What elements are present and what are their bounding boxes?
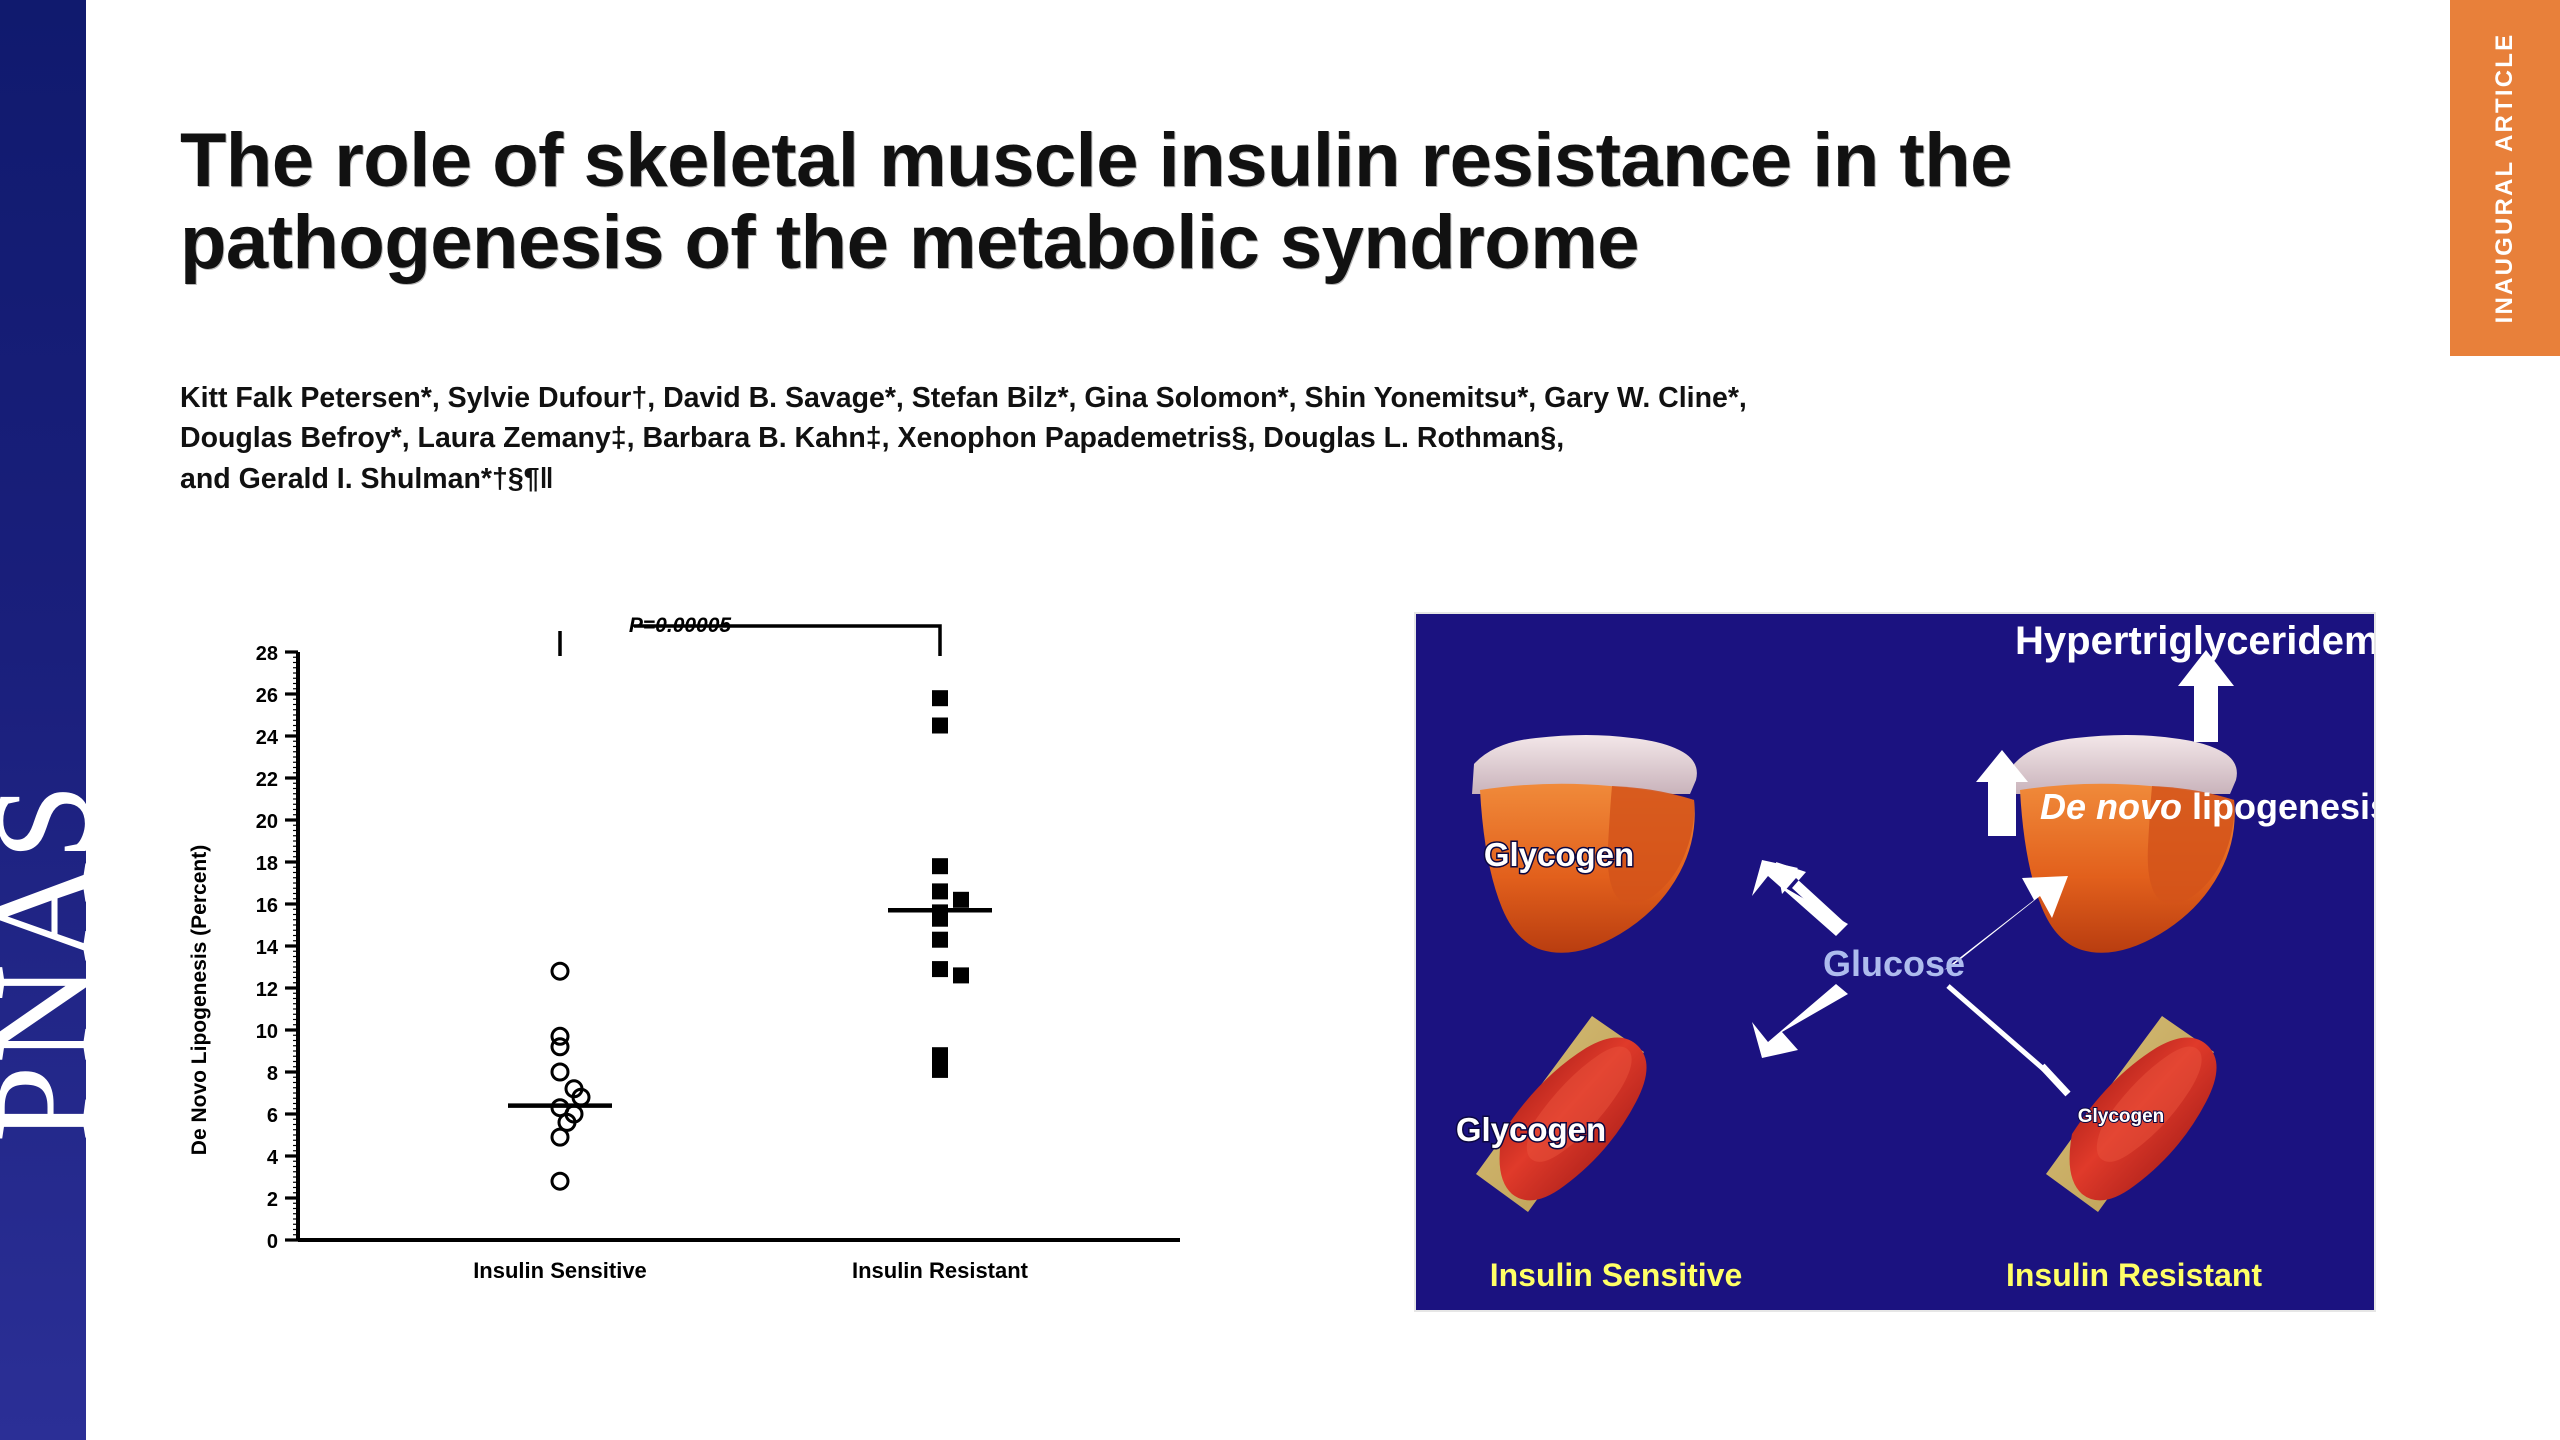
author-list: Kitt Falk Petersen*, Sylvie Dufour†, Dav… [180,378,2380,499]
y-tick-label: 0 [267,1231,278,1253]
y-tick-label: 4 [267,1147,279,1169]
y-tick-label: 10 [256,1021,278,1043]
y-axis-tick-labels: 0246810121416182022242628 [256,643,279,1253]
author-line-2: Douglas Befroy*, Laura Zemany‡, Barbara … [180,418,2380,458]
muscle-glycogen-left-label: Glycogen [1456,1111,1606,1148]
dot-plot-figure: 0246810121416182022242628 De Novo Lipoge… [180,610,1320,1310]
title-line-1: The role of skeletal muscle insulin resi… [180,120,2340,202]
data-point-filled-square [932,718,948,734]
data-points [552,690,969,1189]
x-axis-label-insulin-resistant: Insulin Resistant [852,1258,1029,1283]
title-line-2: pathogenesis of the metabolic syndrome [180,202,2340,284]
data-point-open-circle [552,1064,568,1080]
y-tick-label: 2 [267,1189,278,1211]
data-point-filled-square [953,892,969,908]
data-point-filled-square [932,858,948,874]
y-tick-label: 28 [256,643,278,665]
metabolism-schematic-figure: Glycogen Glycogen Glycogen [1414,612,2376,1312]
metabolism-schematic-svg: Glycogen Glycogen Glycogen [1416,614,2374,1310]
y-tick-label: 24 [256,727,279,749]
data-point-open-circle [552,1039,568,1055]
y-tick-label: 8 [267,1063,278,1085]
y-tick-label: 16 [256,895,278,917]
data-point-filled-square [932,932,948,948]
data-point-open-circle [552,1129,568,1145]
data-point-open-circle [552,1173,568,1189]
y-tick-label: 20 [256,811,278,833]
bottom-left-label: Insulin Sensitive [1490,1257,1743,1293]
page-title: The role of skeletal muscle insulin resi… [180,120,2340,284]
data-point-filled-square [932,1062,948,1078]
y-axis-label: De Novo Lipogenesis (Percent) [188,845,211,1155]
author-line-3: and Gerald I. Shulman*†§¶‖ [180,459,2380,499]
de-novo-lipogenesis-label: De novo lipogenesis [2040,786,2374,827]
liver-glycogen-left-label: Glycogen [1484,836,1634,873]
data-point-filled-square [932,911,948,927]
data-point-filled-square [932,1047,948,1063]
data-point-open-circle [552,963,568,979]
mean-lines [508,910,992,1105]
bottom-right-label: Insulin Resistant [2006,1257,2262,1293]
pnas-wordmark: PNAS [0,781,86,1142]
y-tick-label: 18 [256,853,278,875]
dot-plot-svg: 0246810121416182022242628 De Novo Lipoge… [180,610,1320,1310]
data-point-filled-square [953,967,969,983]
data-point-filled-square [932,961,948,977]
inaugural-article-tab: INAUGURAL ARTICLE [2450,0,2560,356]
y-tick-label: 22 [256,769,278,791]
muscle-glycogen-right-label: Glycogen [2078,1106,2165,1127]
p-value-annotation: P=0.00005 [629,614,732,637]
inaugural-article-label: INAUGURAL ARTICLE [2491,33,2519,324]
y-tick-label: 26 [256,685,278,707]
author-line-1: Kitt Falk Petersen*, Sylvie Dufour†, Dav… [180,378,2380,418]
y-tick-label: 12 [256,979,278,1001]
x-axis-label-insulin-sensitive: Insulin Sensitive [473,1258,647,1283]
title-block: The role of skeletal muscle insulin resi… [180,120,2340,284]
data-point-filled-square [932,883,948,899]
schematic-headline: Hypertriglyceridemia [2015,619,2374,663]
data-point-filled-square [932,690,948,706]
chart-axes [285,652,1180,1240]
y-tick-label: 14 [256,937,279,959]
pnas-journal-spine: PNAS [0,0,86,1440]
glucose-label: Glucose [1823,943,1965,984]
y-tick-label: 6 [267,1105,278,1127]
